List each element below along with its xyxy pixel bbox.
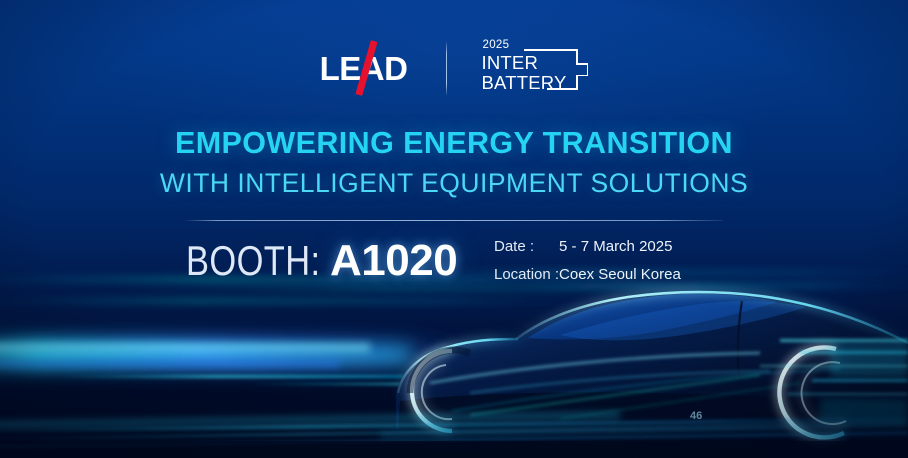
info-row: BOOTH: A1020 Date : 5 - 7 March 2025 Loc…: [186, 233, 746, 289]
detail-row-location: Location : Coex Seoul Korea: [494, 261, 681, 289]
inter-battery-year: 2025: [483, 40, 510, 52]
headline-block: EMPOWERING ENERGY TRANSITION WITH INTELL…: [0, 126, 908, 199]
battery-terminal-bottom: [576, 75, 588, 77]
lead-logo: LEAD: [316, 46, 412, 90]
date-label: Date :: [494, 233, 559, 261]
battery-outline-top: [524, 49, 578, 51]
inter-battery-logo: 2025 INTER BATTERY: [481, 40, 593, 96]
location-value: Coex Seoul Korea: [559, 261, 681, 289]
inter-battery-line1: INTER: [482, 53, 539, 74]
battery-outline-right-upper: [576, 49, 578, 64]
battery-outline-bottom: [547, 88, 578, 90]
inter-battery-line2: BATTERY: [482, 73, 567, 94]
logo-divider: [446, 42, 447, 95]
section-divider: [186, 220, 723, 221]
booth-label: BOOTH:: [186, 240, 320, 282]
headline-secondary: WITH INTELLIGENT EQUIPMENT SOLUTIONS: [0, 168, 908, 199]
headline-primary: EMPOWERING ENERGY TRANSITION: [0, 126, 908, 161]
booth-number: A1020: [330, 239, 457, 283]
date-value: 5 - 7 March 2025: [559, 233, 681, 261]
location-label: Location :: [494, 261, 559, 289]
booth-block: BOOTH: A1020: [186, 239, 486, 283]
promo-banner: 46 LEAD 2025 INTER BATTE: [0, 0, 908, 458]
logo-row: LEAD 2025 INTER BATTERY: [0, 40, 908, 96]
event-details: Date : 5 - 7 March 2025 Location : Coex …: [494, 233, 681, 289]
detail-row-date: Date : 5 - 7 March 2025: [494, 233, 681, 261]
